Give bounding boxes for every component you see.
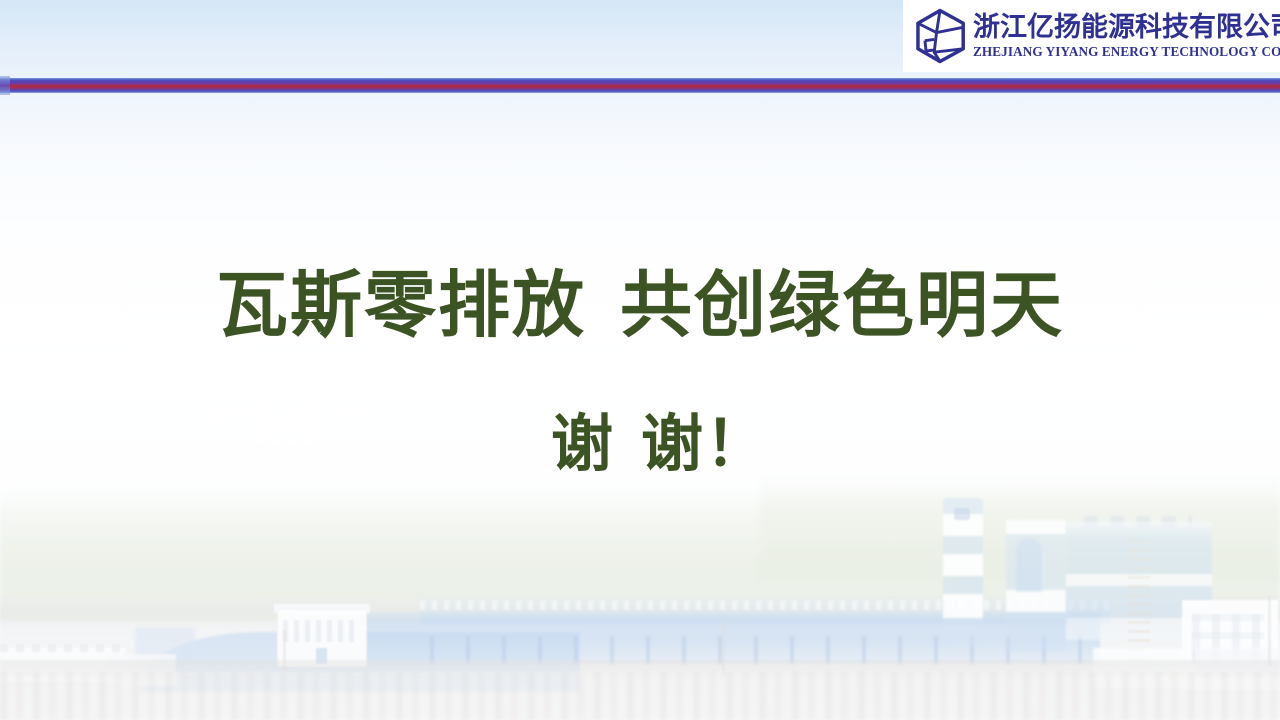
presentation-slide: 浙江亿扬能源科技有限公司 ZHEJIANG YIYANG ENERGY TECH… <box>0 0 1280 720</box>
hexagon-crystal-logo-icon <box>911 7 969 65</box>
left-shed-roof <box>0 644 125 652</box>
blue-office-tower-arch <box>1016 538 1042 592</box>
company-name-cn: 浙江亿扬能源科技有限公司 <box>973 12 1280 43</box>
foreground-yard-clutter <box>0 672 1280 720</box>
thanks-part-2: 谢 <box>641 410 705 479</box>
header-divider-band <box>0 78 1280 93</box>
slide-thanks-line: 谢谢！ <box>0 404 1280 486</box>
striped-chimney-tower <box>943 498 983 646</box>
company-logo-panel: 浙江亿扬能源科技有限公司 ZHEJIANG YIYANG ENERGY TECH… <box>903 0 1280 72</box>
center-office-windows <box>283 620 359 642</box>
headline-part-1: 瓦斯零排放 <box>216 266 586 346</box>
headline-part-2: 共创绿色明天 <box>620 266 1064 346</box>
thanks-part-1: 谢 <box>551 410 615 479</box>
header-band-left-cap <box>0 76 10 95</box>
utility-pole-2 <box>1268 596 1271 666</box>
company-name-en: ZHEJIANG YIYANG ENERGY TECHNOLOGY CO., L… <box>973 44 1280 60</box>
company-name-block: 浙江亿扬能源科技有限公司 ZHEJIANG YIYANG ENERGY TECH… <box>973 12 1280 60</box>
thanks-punctuation: ！ <box>705 410 769 479</box>
chimney-logo-mark <box>954 508 970 520</box>
slide-headline: 瓦斯零排放共创绿色明天 <box>0 258 1280 354</box>
background-photo <box>0 0 1280 720</box>
